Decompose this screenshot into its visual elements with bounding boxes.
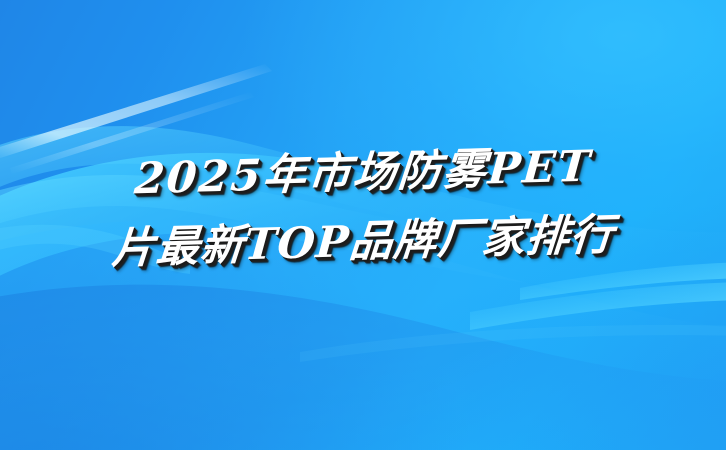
banner-image: 2025年市场防雾PET 片最新TOP品牌厂家排行 — [0, 0, 726, 450]
banner-title: 2025年市场防雾PET 片最新TOP品牌厂家排行 — [0, 152, 726, 264]
title-line-1: 2025年市场防雾PET — [0, 142, 726, 205]
